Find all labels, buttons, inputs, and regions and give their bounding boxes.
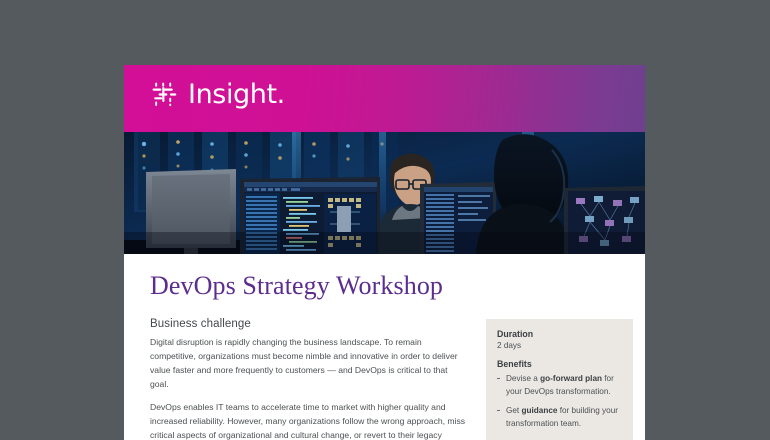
insight-logo-mark [152,81,179,108]
insight-wordmark: Insight. [188,81,285,108]
benefit-text-pre: Devise a [506,374,540,383]
content-columns: Business challenge Digital disruption is… [150,318,621,440]
hero-image-art [124,132,645,254]
section-heading-business-challenge: Business challenge [150,318,466,330]
duration-value: 2 days [497,341,622,350]
benefit-item: Get guidance for building your transform… [497,404,622,431]
document-body: DevOps Strategy Workshop Business challe… [124,254,645,440]
benefit-text-strong: go-forward plan [540,374,602,383]
paragraph-business-challenge-1: Digital disruption is rapidly changing t… [150,335,466,391]
main-column: Business challenge Digital disruption is… [150,318,466,440]
page-title: DevOps Strategy Workshop [150,272,621,301]
benefits-label: Benefits [497,359,622,369]
insight-logo[interactable]: Insight. [152,81,285,108]
benefit-text-pre: Get [506,406,521,415]
benefits-list: Devise a go-forward plan for your DevOps… [497,372,622,440]
screenshot-canvas: Insight. [0,0,770,440]
paragraph-business-challenge-2: DevOps enables IT teams to accelerate ti… [150,400,466,440]
duration-label: Duration [497,329,622,339]
document-page: Insight. [124,65,645,440]
benefit-text-strong: guidance [521,406,557,415]
brand-header: Insight. [124,65,645,132]
hero-image [124,132,645,254]
details-sidebar-card: Duration 2 days Benefits Devise a go-for… [486,319,633,440]
benefit-item: Devise a go-forward plan for your DevOps… [497,372,622,399]
